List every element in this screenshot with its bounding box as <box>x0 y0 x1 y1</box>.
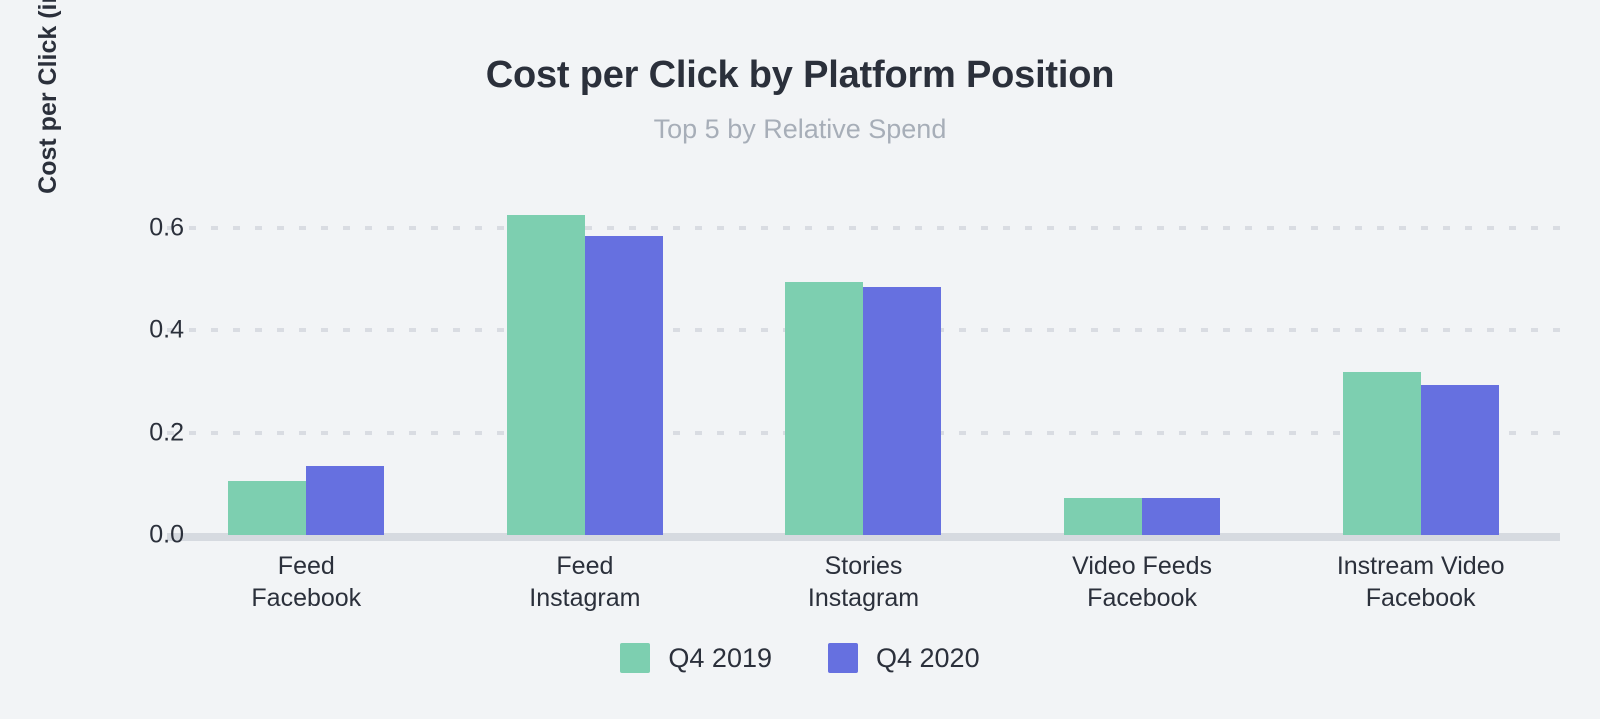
x-axis-tick-line: Facebook <box>1281 582 1560 614</box>
bar-group <box>1003 228 1282 535</box>
x-axis-tick-line: Stories <box>724 550 1003 582</box>
chart-legend: Q4 2019Q4 2020 <box>0 643 1600 673</box>
y-axis-tick-label: 0.0 <box>64 523 184 548</box>
plot-area <box>167 228 1560 535</box>
bar-pair <box>1064 228 1220 535</box>
y-axis-title-text: Cost per Click (in USD) <box>30 0 66 232</box>
bar[interactable] <box>228 481 306 535</box>
bar-group <box>446 228 725 535</box>
bar[interactable] <box>507 215 585 535</box>
x-axis-tick-line: Instagram <box>724 582 1003 614</box>
bar[interactable] <box>785 282 863 535</box>
x-axis-tick-line: Video Feeds <box>1003 550 1282 582</box>
x-axis-tick-line: Facebook <box>167 582 446 614</box>
bar[interactable] <box>1343 372 1421 535</box>
legend-item[interactable]: Q4 2019 <box>620 643 772 673</box>
chart-subtitle: Top 5 by Relative Spend <box>0 96 1600 143</box>
x-axis-ticks: FeedFacebookFeedInstagramStoriesInstagra… <box>167 550 1560 614</box>
bar[interactable] <box>863 287 941 535</box>
chart-title: Cost per Click by Platform Position <box>0 56 1600 96</box>
bar-pair <box>228 228 384 535</box>
bar[interactable] <box>1142 498 1220 535</box>
chart-header: Cost per Click by Platform Position Top … <box>0 56 1600 143</box>
x-axis-tick-line: Instream Video <box>1281 550 1560 582</box>
bar-group <box>724 228 1003 535</box>
bar[interactable] <box>1421 385 1499 535</box>
y-axis-tick-label: 0.2 <box>64 420 184 445</box>
legend-label: Q4 2020 <box>876 643 980 673</box>
bar[interactable] <box>306 466 384 535</box>
x-axis-tick-label: Instream VideoFacebook <box>1281 550 1560 614</box>
chart-container: Cost per Click by Platform Position Top … <box>0 0 1600 719</box>
bar-pair <box>785 228 941 535</box>
bar-pair <box>1343 228 1499 535</box>
bar[interactable] <box>585 236 663 535</box>
x-axis-tick-label: StoriesInstagram <box>724 550 1003 614</box>
legend-swatch-icon <box>828 643 858 673</box>
y-axis-tick-label: 0.4 <box>64 318 184 343</box>
legend-swatch-icon <box>620 643 650 673</box>
x-axis-tick-label: Video FeedsFacebook <box>1003 550 1282 614</box>
x-axis-tick-line: Facebook <box>1003 582 1282 614</box>
legend-label: Q4 2019 <box>668 643 772 673</box>
x-axis-tick-label: FeedInstagram <box>446 550 725 614</box>
x-axis-tick-line: Feed <box>446 550 725 582</box>
bar-group <box>167 228 446 535</box>
x-axis-tick-label: FeedFacebook <box>167 550 446 614</box>
legend-item[interactable]: Q4 2020 <box>828 643 980 673</box>
y-axis-tick-label: 0.6 <box>64 216 184 241</box>
bar[interactable] <box>1064 498 1142 535</box>
x-axis-tick-line: Instagram <box>446 582 725 614</box>
bar-group <box>1281 228 1560 535</box>
y-axis-title: Cost per Click (in USD) <box>30 0 66 232</box>
bar-pair <box>507 228 663 535</box>
bar-groups <box>167 228 1560 535</box>
x-axis-tick-line: Feed <box>167 550 446 582</box>
